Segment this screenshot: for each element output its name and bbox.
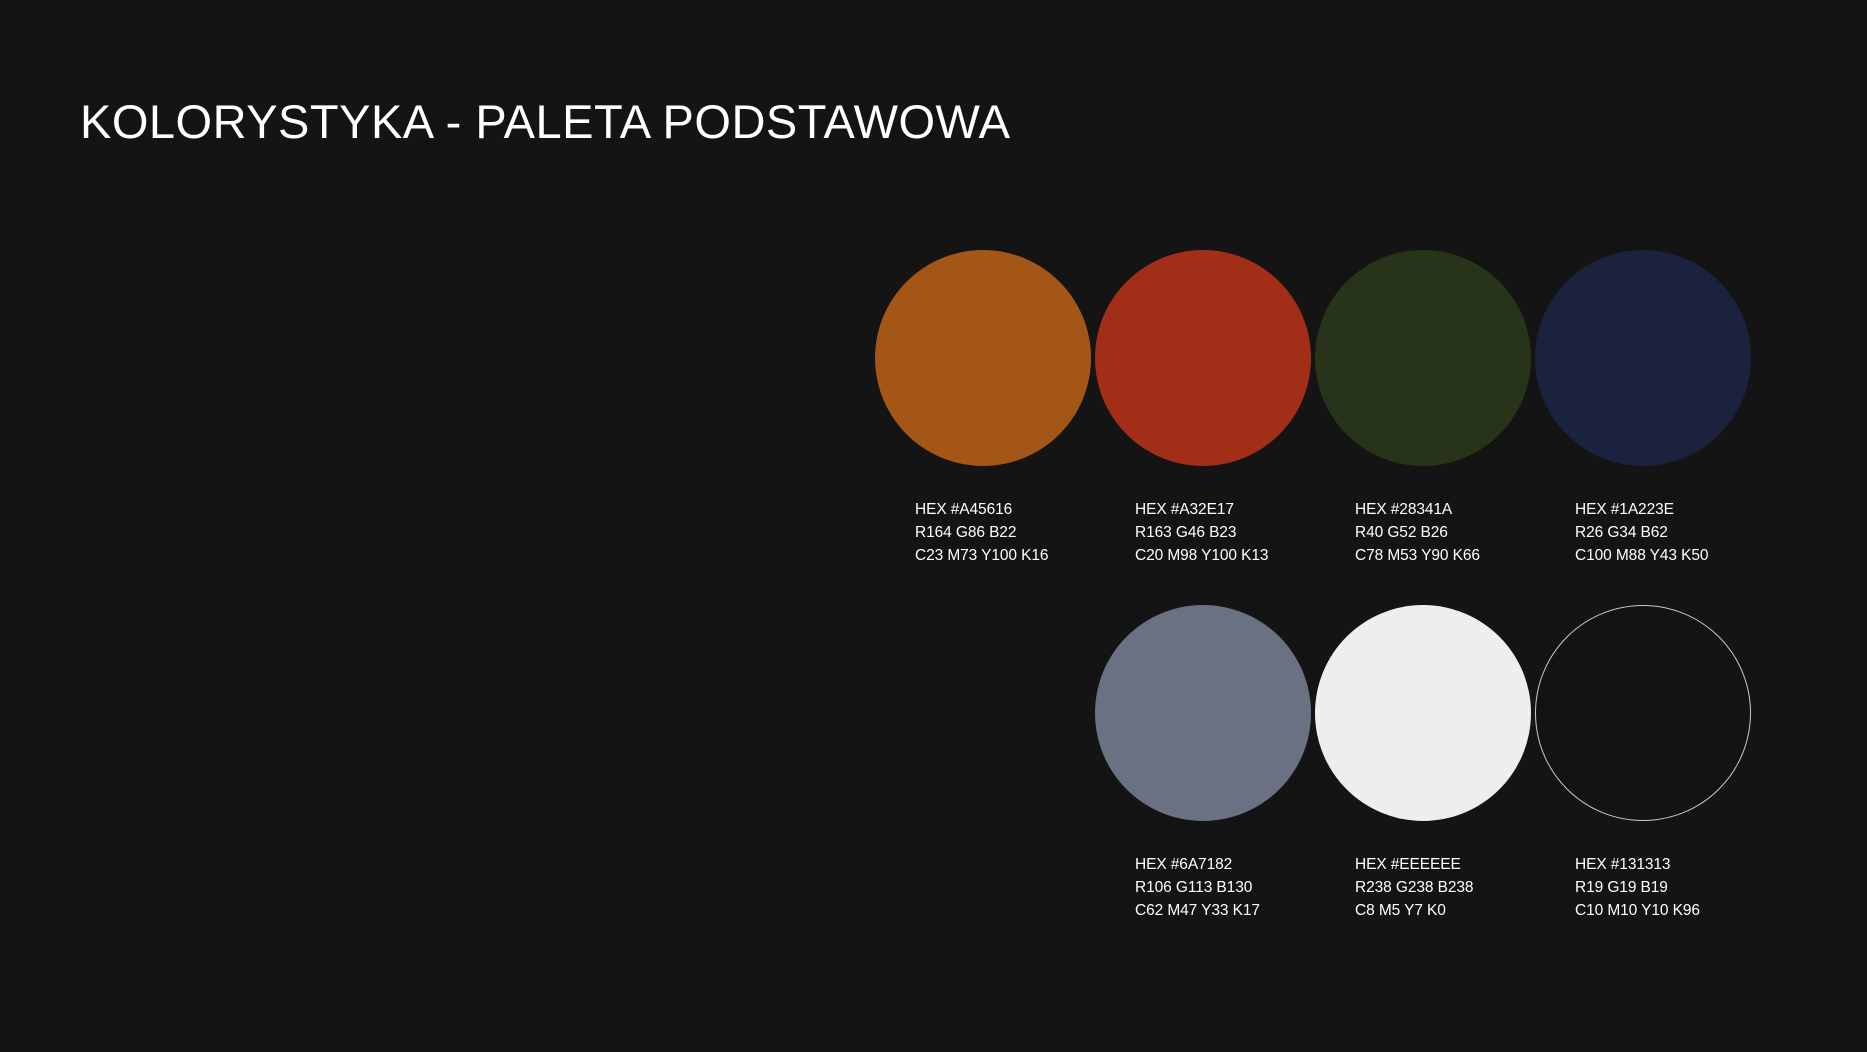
swatch-cmyk-value: C23 M73 Y100 K16 bbox=[915, 544, 1048, 567]
swatch-black[interactable]: HEX #131313R19 G19 B19C10 M10 Y10 K96 bbox=[1535, 605, 1755, 945]
swatch-info-black: HEX #131313R19 G19 B19C10 M10 Y10 K96 bbox=[1575, 853, 1700, 922]
swatch-row-neutral: HEX #6A7182R106 G113 B130C62 M47 Y33 K17… bbox=[1095, 605, 1755, 945]
swatch-hex-value: HEX #6A7182 bbox=[1135, 853, 1260, 876]
swatch-info-navy: HEX #1A223ER26 G34 B62C100 M88 Y43 K50 bbox=[1575, 498, 1708, 567]
swatch-cmyk-value: C10 M10 Y10 K96 bbox=[1575, 899, 1700, 922]
swatch-green[interactable]: HEX #28341AR40 G52 B26C78 M53 Y90 K66 bbox=[1315, 250, 1535, 590]
swatch-rgb-value: R26 G34 B62 bbox=[1575, 521, 1708, 544]
swatch-info-green: HEX #28341AR40 G52 B26C78 M53 Y90 K66 bbox=[1355, 498, 1480, 567]
swatch-red[interactable]: HEX #A32E17R163 G46 B23C20 M98 Y100 K13 bbox=[1095, 250, 1315, 590]
swatch-slate[interactable]: HEX #6A7182R106 G113 B130C62 M47 Y33 K17 bbox=[1095, 605, 1315, 945]
swatch-hex-value: HEX #A45616 bbox=[915, 498, 1048, 521]
swatch-info-slate: HEX #6A7182R106 G113 B130C62 M47 Y33 K17 bbox=[1135, 853, 1260, 922]
swatch-circle-navy[interactable] bbox=[1535, 250, 1751, 466]
swatch-rgb-value: R19 G19 B19 bbox=[1575, 876, 1700, 899]
swatch-info-red: HEX #A32E17R163 G46 B23C20 M98 Y100 K13 bbox=[1135, 498, 1268, 567]
swatch-cmyk-value: C100 M88 Y43 K50 bbox=[1575, 544, 1708, 567]
swatch-white[interactable]: HEX #EEEEEER238 G238 B238C8 M5 Y7 K0 bbox=[1315, 605, 1535, 945]
swatch-info-orange: HEX #A45616R164 G86 B22C23 M73 Y100 K16 bbox=[915, 498, 1048, 567]
swatch-rgb-value: R40 G52 B26 bbox=[1355, 521, 1480, 544]
slide-canvas: KOLORYSTYKA - PALETA PODSTAWOWA HEX #A45… bbox=[0, 0, 1867, 1052]
swatch-navy[interactable]: HEX #1A223ER26 G34 B62C100 M88 Y43 K50 bbox=[1535, 250, 1755, 590]
swatch-circle-black[interactable] bbox=[1535, 605, 1751, 821]
swatch-circle-white[interactable] bbox=[1315, 605, 1531, 821]
swatch-rgb-value: R106 G113 B130 bbox=[1135, 876, 1260, 899]
swatch-hex-value: HEX #131313 bbox=[1575, 853, 1700, 876]
swatch-rgb-value: R163 G46 B23 bbox=[1135, 521, 1268, 544]
swatch-cmyk-value: C62 M47 Y33 K17 bbox=[1135, 899, 1260, 922]
page-title: KOLORYSTYKA - PALETA PODSTAWOWA bbox=[80, 97, 1010, 146]
swatch-circle-green[interactable] bbox=[1315, 250, 1531, 466]
swatch-hex-value: HEX #1A223E bbox=[1575, 498, 1708, 521]
swatch-rgb-value: R238 G238 B238 bbox=[1355, 876, 1473, 899]
swatch-hex-value: HEX #EEEEEE bbox=[1355, 853, 1473, 876]
swatch-info-white: HEX #EEEEEER238 G238 B238C8 M5 Y7 K0 bbox=[1355, 853, 1473, 922]
swatch-rgb-value: R164 G86 B22 bbox=[915, 521, 1048, 544]
swatch-hex-value: HEX #A32E17 bbox=[1135, 498, 1268, 521]
swatch-cmyk-value: C20 M98 Y100 K13 bbox=[1135, 544, 1268, 567]
swatch-circle-orange[interactable] bbox=[875, 250, 1091, 466]
swatch-row-primary: HEX #A45616R164 G86 B22C23 M73 Y100 K16H… bbox=[875, 250, 1755, 590]
swatch-orange[interactable]: HEX #A45616R164 G86 B22C23 M73 Y100 K16 bbox=[875, 250, 1095, 590]
swatch-circle-red[interactable] bbox=[1095, 250, 1311, 466]
swatch-hex-value: HEX #28341A bbox=[1355, 498, 1480, 521]
swatch-cmyk-value: C78 M53 Y90 K66 bbox=[1355, 544, 1480, 567]
swatch-cmyk-value: C8 M5 Y7 K0 bbox=[1355, 899, 1473, 922]
swatch-circle-slate[interactable] bbox=[1095, 605, 1311, 821]
